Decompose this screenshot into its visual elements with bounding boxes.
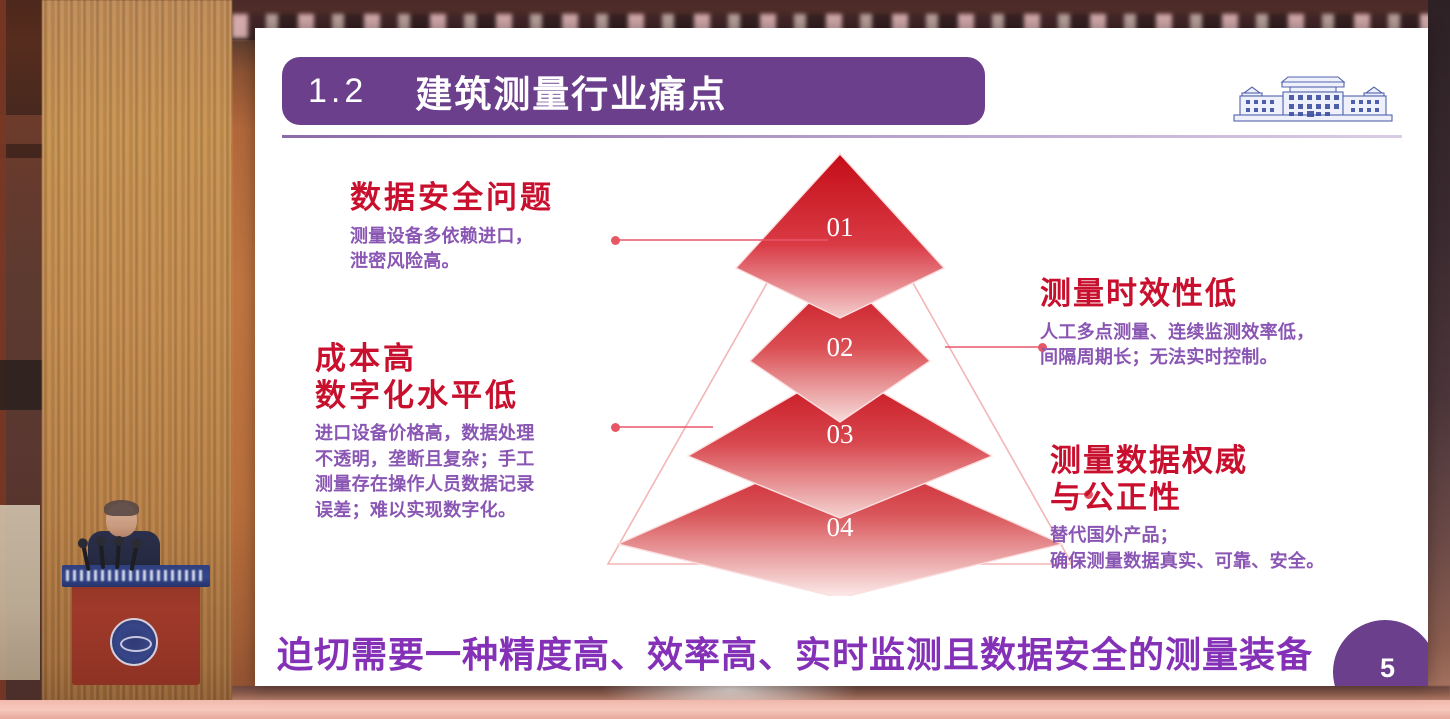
screenshot-root: 1.2 建筑测量行业痛点 — [0, 0, 1450, 719]
point-body: 替代国外产品； 确保测量数据真实、可靠、安全。 — [1050, 523, 1325, 574]
point-body-line: 泄密风险高。 — [350, 251, 460, 271]
point-heading: 测量时效性低 — [1040, 276, 1315, 313]
connector-dot — [611, 236, 620, 245]
connector-line-01 — [613, 239, 828, 241]
point-body-line: 间隔周期长；无法实时控制。 — [1040, 347, 1278, 367]
slide-title-bar: 1.2 建筑测量行业痛点 — [282, 57, 985, 125]
speaker-hair — [104, 500, 139, 516]
pyramid-diagram: 01 02 03 04 — [600, 146, 1080, 596]
point-heading: 测量数据权威 与公正性 — [1050, 443, 1325, 516]
point-block-high-cost: 成本高 数字化水平低 进口设备价格高，数据处理 不透明，垄断且复杂；手工 测量存… — [315, 341, 535, 523]
point-block-low-timeliness: 测量时效性低 人工多点测量、连续监测效率低， 间隔周期长；无法实时控制。 — [1040, 276, 1315, 371]
point-body-line: 人工多点测量、连续监测效率低， — [1040, 322, 1315, 342]
presentation-slide: 1.2 建筑测量行业痛点 — [255, 28, 1428, 686]
title-divider — [282, 135, 1402, 138]
pyramid-label-03: 03 — [827, 419, 854, 449]
point-body-line: 确保测量数据真实、可靠、安全。 — [1050, 551, 1325, 571]
pyramid-label-02: 02 — [827, 332, 854, 362]
point-body-line: 不透明，垄断且复杂；手工 — [315, 449, 535, 469]
point-body: 进口设备价格高，数据处理 不透明，垄断且复杂；手工 测量存在操作人员数据记录 误… — [315, 421, 535, 523]
page-number: 5 — [1380, 653, 1395, 684]
point-block-data-security: 数据安全问题 测量设备多依赖进口， 泄密风险高。 — [350, 180, 554, 275]
hall-door — [0, 505, 40, 680]
podium-nameplate-text — [66, 570, 206, 581]
point-body-line: 误差；难以实现数字化。 — [315, 500, 516, 520]
point-heading-line: 测量数据权威 — [1050, 443, 1248, 478]
point-heading-line: 与公正性 — [1050, 480, 1182, 515]
university-building-logo-icon — [1220, 55, 1406, 127]
connector-line-02 — [945, 346, 1045, 348]
point-body-line: 测量存在操作人员数据记录 — [315, 474, 535, 494]
point-heading-line: 成本高 — [315, 341, 417, 376]
point-heading: 数据安全问题 — [350, 180, 554, 217]
hall-wall-right — [1428, 0, 1450, 719]
connector-dot — [611, 423, 620, 432]
connector-line-03 — [613, 426, 713, 428]
point-body: 测量设备多依赖进口， 泄密风险高。 — [350, 224, 554, 275]
slide-footer-statement: 迫切需要一种精度高、效率高、实时监测且数据安全的测量装备 — [277, 626, 1387, 678]
point-body: 人工多点测量、连续监测效率低， 间隔周期长；无法实时控制。 — [1040, 320, 1315, 371]
pyramid-label-01: 01 — [827, 212, 854, 242]
foreground-strip — [0, 700, 1450, 719]
point-heading-line: 数字化水平低 — [315, 378, 519, 413]
point-heading: 成本高 数字化水平低 — [315, 341, 535, 414]
podium-emblem — [110, 618, 158, 666]
page-title: 建筑测量行业痛点 — [415, 64, 727, 118]
point-block-data-authority: 测量数据权威 与公正性 替代国外产品； 确保测量数据真实、可靠、安全。 — [1050, 443, 1325, 574]
point-body-line: 测量设备多依赖进口， — [350, 226, 533, 246]
section-number: 1.2 — [308, 72, 367, 111]
point-body-line: 进口设备价格高，数据处理 — [315, 423, 535, 443]
point-body-line: 替代国外产品； — [1050, 525, 1178, 545]
pyramid-label-04: 04 — [827, 512, 855, 542]
